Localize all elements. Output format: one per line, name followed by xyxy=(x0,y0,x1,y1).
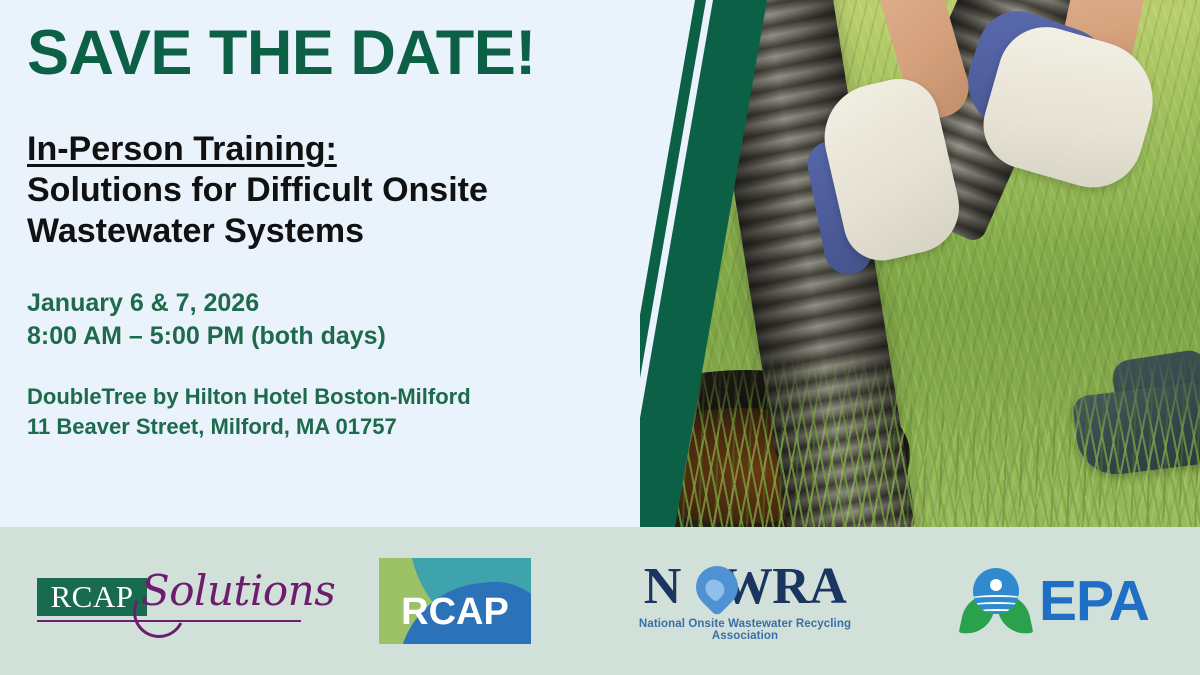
event-location: DoubleTree by Hilton Hotel Boston-Milfor… xyxy=(27,352,647,441)
epa-sun-icon xyxy=(990,579,1002,591)
page-title: SAVE THE DATE! xyxy=(27,0,647,85)
flyer-text-block: SAVE THE DATE! In-Person Training: Solut… xyxy=(27,0,647,441)
rcap-solutions-underline-rule xyxy=(37,620,301,622)
rcap-logo-text: RCAP xyxy=(379,591,531,634)
save-the-date-flyer: SAVE THE DATE! In-Person Training: Solut… xyxy=(0,0,1200,675)
subheading-line-1: In-Person Training: xyxy=(27,130,337,168)
event-datetime: January 6 & 7, 2026 8:00 AM – 5:00 PM (b… xyxy=(27,251,647,352)
main-content-area: SAVE THE DATE! In-Person Training: Solut… xyxy=(0,0,1200,527)
rcap-solutions-green-box: RCAP xyxy=(37,578,147,616)
epa-wave-3 xyxy=(973,609,1019,614)
epa-blue-circle xyxy=(973,568,1019,614)
venue-name: DoubleTree by Hilton Hotel Boston-Milfor… xyxy=(27,384,471,409)
logo-slot-rcap-solutions: RCAP Solutions xyxy=(0,527,330,675)
epa-logo: EPA xyxy=(961,566,1149,636)
epa-seal-icon xyxy=(961,566,1031,636)
nowra-logo: NOWRA National Onsite Wastewater Recycli… xyxy=(617,561,873,642)
logo-slot-epa: EPA xyxy=(910,527,1200,675)
subheading-line-2: Solutions for Difficult Onsite xyxy=(27,171,488,209)
photo-foreground-grass xyxy=(640,352,1200,527)
rcap-solutions-script-text: Solutions xyxy=(141,566,335,615)
epa-wave-1 xyxy=(973,595,1019,602)
nowra-letter-n: N xyxy=(644,558,681,615)
logo-slot-rcap: RCAP xyxy=(330,527,580,675)
rcap-solutions-box-text: RCAP xyxy=(37,578,147,616)
event-time: 8:00 AM – 5:00 PM (both days) xyxy=(27,322,386,350)
nowra-wordmark: NOWRA xyxy=(644,561,847,613)
epa-wordmark: EPA xyxy=(1039,573,1149,630)
rcap-logo: RCAP xyxy=(379,558,531,644)
epa-wave-2 xyxy=(973,602,1019,609)
event-date: January 6 & 7, 2026 xyxy=(27,289,259,317)
logo-slot-nowra: NOWRA National Onsite Wastewater Recycli… xyxy=(580,527,910,675)
subheading-line-3: Wastewater Systems xyxy=(27,212,364,250)
venue-address: 11 Beaver Street, Milford, MA 01757 xyxy=(27,414,397,439)
training-subheading: In-Person Training: Solutions for Diffic… xyxy=(27,85,647,251)
nowra-letters-wra: WRA xyxy=(721,558,847,615)
rcap-solutions-logo: RCAP Solutions xyxy=(29,570,301,632)
sponsor-logo-bar: RCAP Solutions RCAP NOWRA Nation xyxy=(0,527,1200,675)
nowra-tagline: National Onsite Wastewater Recycling Ass… xyxy=(617,618,873,642)
